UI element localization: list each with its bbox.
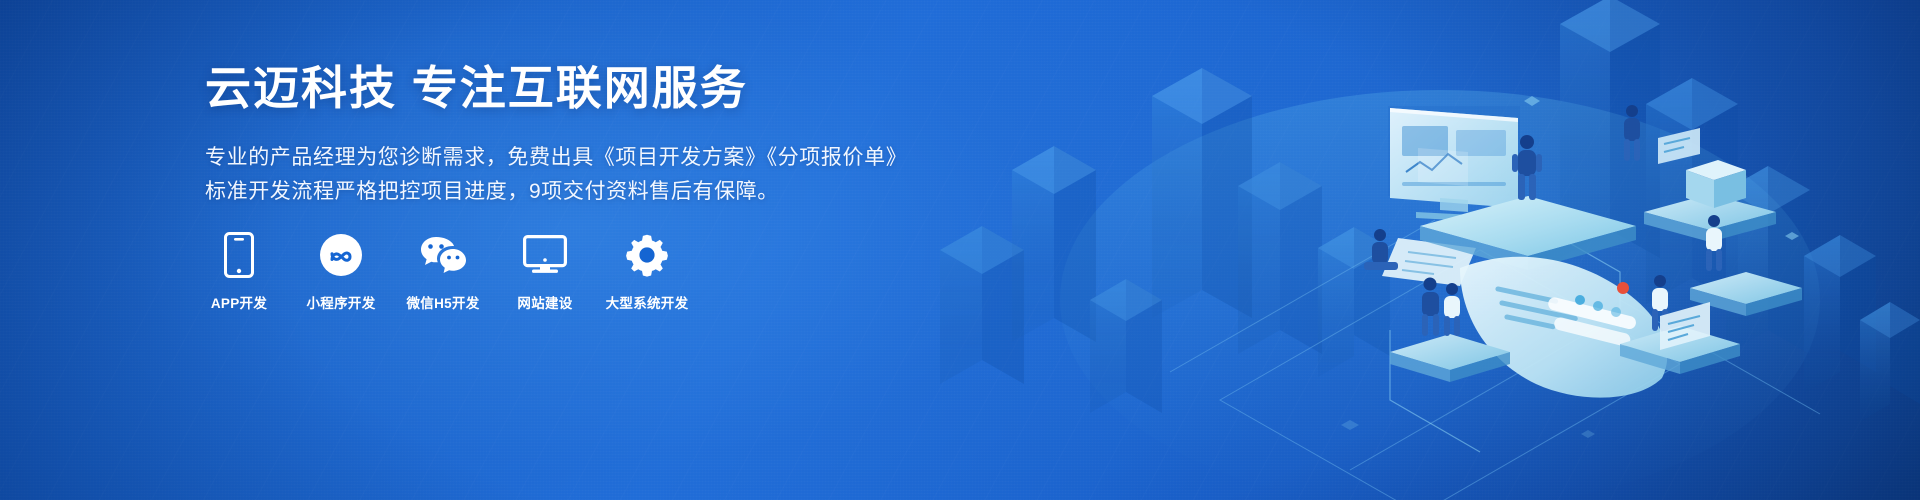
service-item-wechat-h5[interactable]: 微信H5开发 <box>406 232 480 312</box>
service-item-website[interactable]: 网站建设 <box>508 232 582 312</box>
hero-banner: 云迈科技 专注互联网服务 专业的产品经理为您诊断需求，免费出具《项目开发方案》《… <box>0 0 1920 500</box>
isometric-illustration <box>920 0 1920 500</box>
service-label: 微信H5开发 <box>406 292 479 312</box>
service-item-large-system[interactable]: 大型系统开发 <box>610 232 684 312</box>
phone-icon <box>224 232 254 278</box>
subtitle-line-1: 专业的产品经理为您诊断需求，免费出具《项目开发方案》《分项报价单》 <box>205 141 965 175</box>
subtitle-line-2: 标准开发流程严格把控项目进度，9项交付资料售后有保障。 <box>205 175 965 209</box>
service-list: APP开发 小程序开发 微信 <box>202 232 684 312</box>
mini-program-icon <box>319 232 363 278</box>
monitor-icon <box>523 232 567 278</box>
wechat-icon <box>419 232 467 278</box>
gear-icon <box>625 232 669 278</box>
banner-subtitle: 专业的产品经理为您诊断需求，免费出具《项目开发方案》《分项报价单》 标准开发流程… <box>205 141 965 209</box>
service-item-app[interactable]: APP开发 <box>202 232 276 312</box>
service-label: 小程序开发 <box>307 292 376 312</box>
service-label: APP开发 <box>211 292 267 312</box>
service-item-mini-program[interactable]: 小程序开发 <box>304 232 378 312</box>
banner-copy: 云迈科技 专注互联网服务 专业的产品经理为您诊断需求，免费出具《项目开发方案》《… <box>205 62 965 209</box>
page-title: 云迈科技 专注互联网服务 <box>205 62 965 115</box>
floating-panel-left <box>1418 148 1468 186</box>
service-label: 网站建设 <box>517 292 572 312</box>
service-label: 大型系统开发 <box>606 292 689 312</box>
